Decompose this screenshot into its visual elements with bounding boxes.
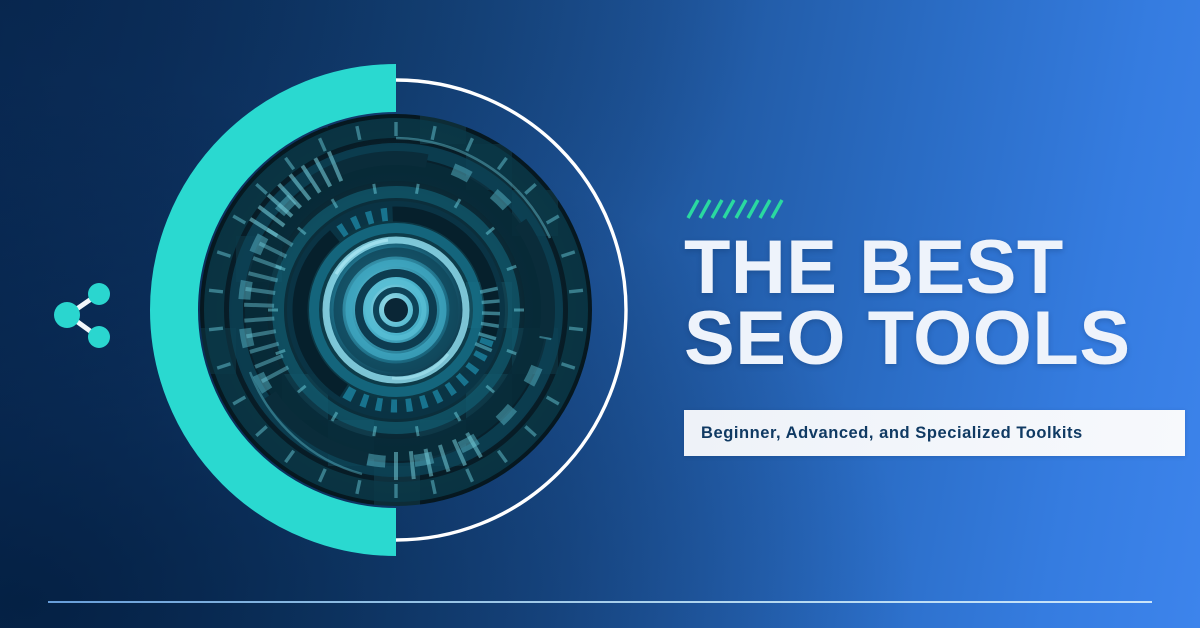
subtitle-text: Beginner, Advanced, and Specialized Tool… — [701, 424, 1083, 443]
circular-tech-hud-graphic — [130, 42, 666, 580]
share-icon-node-bottom — [88, 326, 110, 348]
share-icon-node-top — [88, 283, 110, 305]
bottom-divider — [48, 601, 1152, 603]
headline-line-1: THE BEST — [684, 232, 1194, 303]
hud-core — [324, 238, 468, 382]
subtitle-bar: Beginner, Advanced, and Specialized Tool… — [684, 410, 1185, 456]
headline-block: THE BEST SEO TOOLS — [684, 196, 1194, 375]
headline-line-2: SEO TOOLS — [684, 303, 1194, 374]
share-icon[interactable] — [52, 281, 114, 349]
decorative-slashes-icon — [684, 196, 788, 222]
seo-tools-banner: THE BEST SEO TOOLS Beginner, Advanced, a… — [0, 0, 1200, 628]
share-icon-node-main — [54, 302, 80, 328]
